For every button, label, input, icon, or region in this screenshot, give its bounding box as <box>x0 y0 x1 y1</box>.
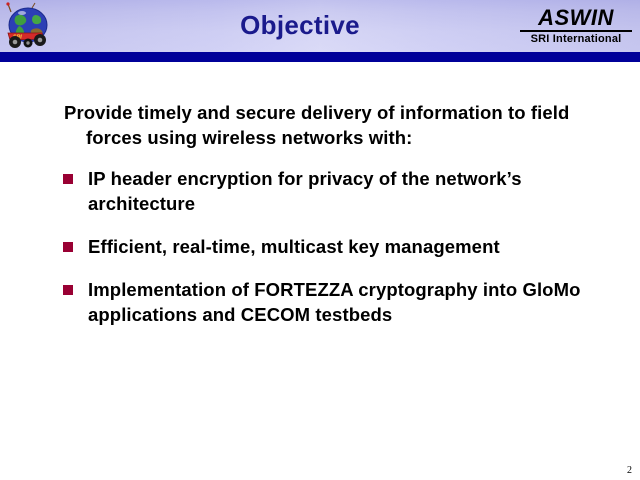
aswin-sri-logo: ASWIN SRI International <box>518 6 634 46</box>
presentation-slide: SRI Objective ASWIN SRI International Pr… <box>0 0 640 480</box>
header-divider-rule <box>0 52 640 62</box>
bullet-list: IP header encryption for privacy of the … <box>0 166 640 327</box>
list-item-text: IP header encryption for privacy of the … <box>88 168 522 214</box>
aswin-wordmark: ASWIN <box>518 6 634 29</box>
page-title: Objective <box>100 8 500 42</box>
page-number: 2 <box>627 465 632 476</box>
list-item-text: Implementation of FORTEZZA cryptography … <box>88 279 581 325</box>
header-divider-highlight <box>0 62 640 64</box>
square-bullet-icon <box>63 174 73 184</box>
list-item: Efficient, real-time, multicast key mana… <box>0 234 640 259</box>
glomo-globe-vehicle-logo-icon: SRI <box>2 2 52 52</box>
square-bullet-icon <box>63 242 73 252</box>
list-item-text: Efficient, real-time, multicast key mana… <box>88 236 500 257</box>
sri-international-label: SRI International <box>518 33 634 46</box>
aswin-underline-rule <box>520 30 632 32</box>
list-item: IP header encryption for privacy of the … <box>0 166 640 216</box>
intro-paragraph: Provide timely and secure delivery of in… <box>0 100 640 150</box>
list-item: Implementation of FORTEZZA cryptography … <box>0 277 640 327</box>
square-bullet-icon <box>63 285 73 295</box>
slide-body: Provide timely and secure delivery of in… <box>0 100 640 327</box>
